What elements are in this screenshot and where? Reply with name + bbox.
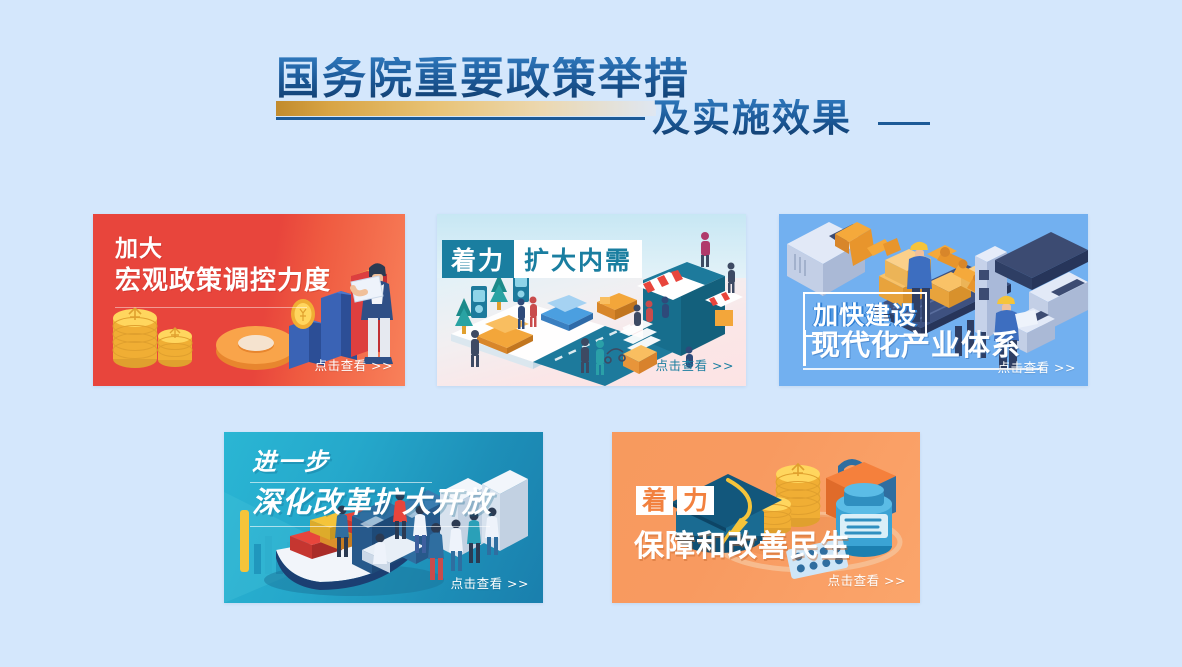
card2-label-b: 扩大内需 bbox=[514, 240, 642, 278]
card5-cta[interactable]: 点击查看 >> bbox=[828, 570, 906, 589]
card3-cta[interactable]: 点击查看 >> bbox=[998, 357, 1076, 376]
card1-headline-line2: 宏观政策调控力度 bbox=[115, 268, 331, 294]
card3-headline-line2: 现代化产业体系 bbox=[811, 331, 1021, 360]
card-modern-industrial-system[interactable]: 加快建设 现代化产业体系 点击查看 >> bbox=[779, 214, 1088, 386]
page-root: 国务院重要政策举措 及实施效果 bbox=[0, 0, 1182, 667]
card1-headline-line1: 加大 bbox=[115, 238, 163, 261]
title-right-dash bbox=[878, 122, 930, 125]
card3-accent-bar bbox=[803, 330, 806, 366]
card5-headline-line1: 着 力 bbox=[636, 486, 714, 515]
card1-rule bbox=[115, 307, 307, 308]
card2-headline: 着力 扩大内需 bbox=[442, 240, 642, 278]
page-subtitle: 及实施效果 bbox=[652, 99, 852, 137]
card2-label-a: 着力 bbox=[442, 240, 514, 278]
card5-label-b: 力 bbox=[677, 486, 714, 515]
card4-rule-2 bbox=[250, 526, 490, 527]
card5-headline-line2: 保障和改善民生 bbox=[634, 532, 851, 562]
card-safeguard-improve-livelihood[interactable]: 着 力 保障和改善民生 点击查看 >> bbox=[612, 432, 920, 603]
card4-rule-1 bbox=[250, 482, 432, 483]
card-expand-domestic-demand[interactable]: 着力 扩大内需 点击查看 >> bbox=[437, 214, 746, 386]
card4-headline-line2: 深化改革扩大开放 bbox=[252, 488, 492, 517]
card3-headline-line1: 加快建设 bbox=[813, 301, 917, 330]
card5-label-a: 着 bbox=[636, 486, 673, 515]
card-macro-policy[interactable]: 加大 宏观政策调控力度 点击查看 >> bbox=[93, 214, 405, 386]
page-title: 国务院重要政策举措 bbox=[276, 57, 690, 101]
card2-cta[interactable]: 点击查看 >> bbox=[656, 355, 734, 374]
title-blue-rule bbox=[276, 117, 645, 120]
card4-headline-line1: 进一步 bbox=[252, 450, 330, 474]
card4-cta[interactable]: 点击查看 >> bbox=[451, 573, 529, 592]
page-header: 国务院重要政策举措 及实施效果 bbox=[0, 0, 1182, 175]
card1-cta[interactable]: 点击查看 >> bbox=[315, 355, 393, 374]
card-deepen-reform-opening[interactable]: 进一步 深化改革扩大开放 点击查看 >> bbox=[224, 432, 543, 603]
